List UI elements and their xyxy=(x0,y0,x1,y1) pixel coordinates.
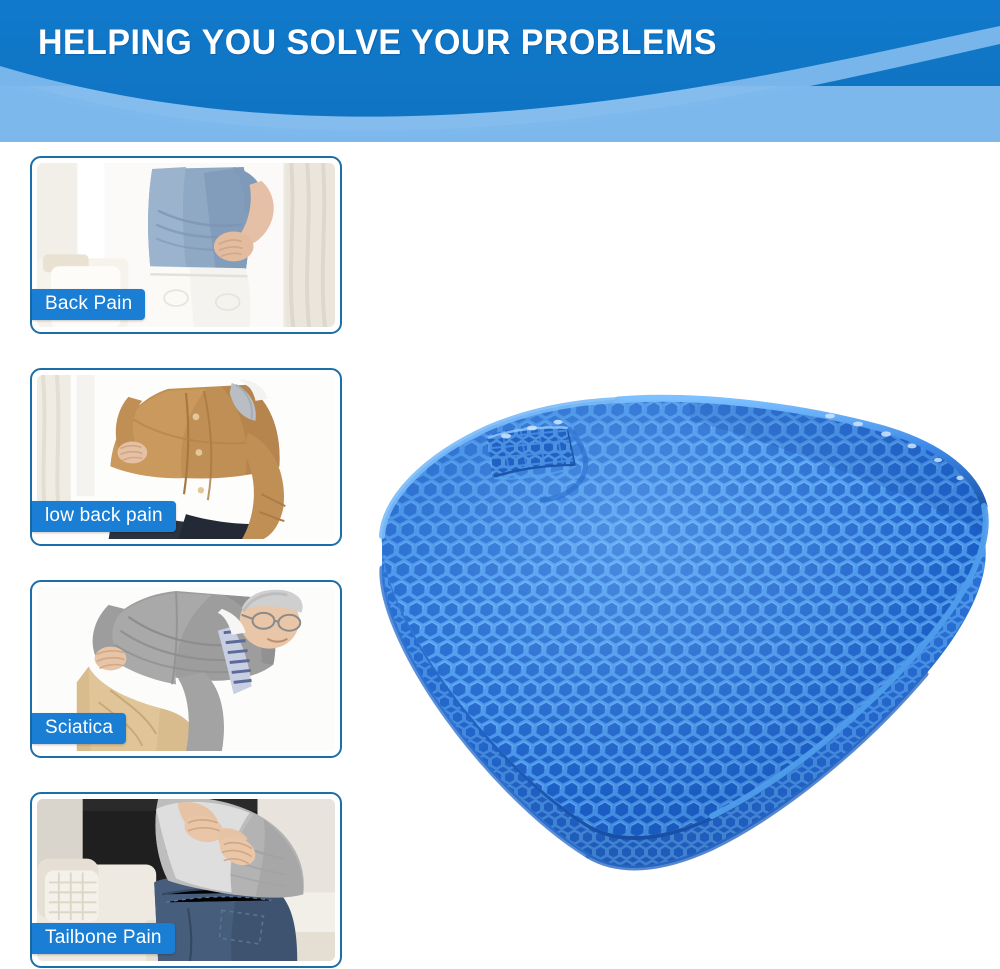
condition-card-sciatica[interactable]: Sciatica xyxy=(30,580,342,758)
gel-cushion-graphic xyxy=(360,380,1000,880)
header-banner: HELPING YOU SOLVE YOUR PROBLEMS xyxy=(0,0,1000,142)
cushion-top-surface xyxy=(360,380,1000,880)
card-label-back-pain: Back Pain xyxy=(32,289,145,320)
card-label-sciatica: Sciatica xyxy=(32,713,126,744)
product-image-gel-seat-cushion xyxy=(360,380,1000,880)
condition-card-tailbone-pain[interactable]: Tailbone Pain xyxy=(30,792,342,968)
card-label-tailbone-pain: Tailbone Pain xyxy=(32,923,175,954)
card-label-low-back-pain: low back pain xyxy=(32,501,176,532)
condition-card-low-back-pain[interactable]: low back pain xyxy=(30,368,342,546)
header-wave-graphic xyxy=(0,0,1000,142)
page-title: HELPING YOU SOLVE YOUR PROBLEMS xyxy=(38,23,717,63)
condition-card-back-pain[interactable]: Back Pain xyxy=(30,156,342,334)
promo-page: HELPING YOU SOLVE YOUR PROBLEMS xyxy=(0,0,1000,969)
